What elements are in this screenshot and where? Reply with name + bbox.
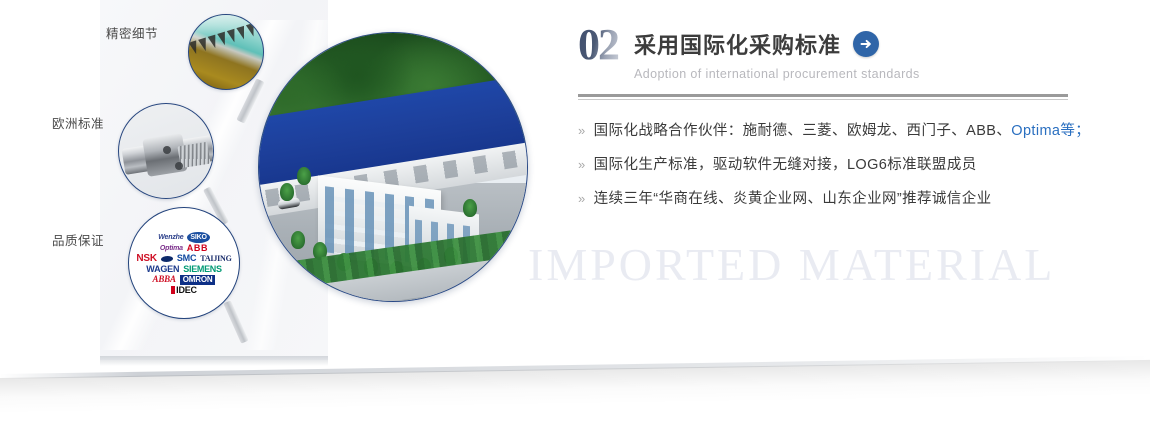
brand-logo-smc: SMC xyxy=(177,254,196,263)
screw-hole xyxy=(163,146,171,154)
brand-logo-idec: IDEC xyxy=(171,286,197,295)
floor-reflection xyxy=(0,360,1150,414)
list-item-highlight: Optima等； xyxy=(1011,123,1090,139)
arrow-right-icon[interactable] xyxy=(853,31,879,57)
list-item-text: 国际化战略合作伙伴：施耐德、三菱、欧姆龙、西门子、ABB、Optima等； xyxy=(594,119,1091,140)
brand-logo-abba: ABBA xyxy=(153,275,176,284)
tree xyxy=(297,167,311,185)
chevron-bullet-icon: » xyxy=(578,124,586,137)
brand-logo-wagen: WAGEN xyxy=(146,265,179,274)
list-item-text: 国际化生产标准，驱动软件无缝对接，LOG6标准联盟成员 xyxy=(594,153,977,174)
divider-thick xyxy=(578,94,1068,97)
chevron-bullet-icon: » xyxy=(578,158,586,171)
brand-logo-siemens: SIEMENS xyxy=(183,265,221,274)
label-precision-detail: 精密细节 xyxy=(106,23,158,42)
brand-logo-omron: OMRON xyxy=(180,275,216,285)
gear-detail-photo xyxy=(188,14,264,90)
list-item-text: 连续三年“华商在线、炎黄企业网、山东企业网”推荐诚信企业 xyxy=(594,187,992,208)
chevron-bullet-icon: » xyxy=(578,192,586,205)
content-column: 02 采用国际化采购标准 Adoption of international p… xyxy=(578,24,1078,224)
brand-logo-wenzhe: Wenzhe xyxy=(158,234,183,241)
watermark-text: IMPORTED MATERIAL xyxy=(528,238,1055,291)
brand-logos-collage: Wenzhe SIKO Optima ABB NSK SMC TAIJING W… xyxy=(128,207,240,319)
list-item: » 连续三年“华商在线、炎黄企业网、山东企业网”推荐诚信企业 xyxy=(578,187,1078,208)
promo-banner: 精密细节 欧洲标准 品质保证 Wenzhe SIKO Optima ABB xyxy=(0,0,1150,430)
ball-screw-photo xyxy=(118,103,214,199)
section-header: 02 采用国际化采购标准 Adoption of international p… xyxy=(578,24,1078,81)
tree xyxy=(463,199,477,217)
brand-logo-siko: SIKO xyxy=(187,232,209,243)
feature-list: » 国际化战略合作伙伴：施耐德、三菱、欧姆龙、西门子、ABB、Optima等； … xyxy=(578,119,1078,208)
screw-hole xyxy=(175,162,183,170)
list-item: » 国际化战略合作伙伴：施耐德、三菱、欧姆龙、西门子、ABB、Optima等； xyxy=(578,119,1078,140)
header-divider xyxy=(578,94,1068,100)
section-number: 02 xyxy=(578,24,624,66)
section-subtitle: Adoption of international procurement st… xyxy=(634,67,920,81)
factory-photo-circle xyxy=(258,32,528,302)
label-european-standard: 欧洲标准 xyxy=(52,113,104,132)
tree xyxy=(280,183,294,201)
page-title: 采用国际化采购标准 xyxy=(634,28,841,60)
label-quality-assurance: 品质保证 xyxy=(52,230,104,249)
brand-logo-taijing: TAIJING xyxy=(200,255,231,263)
brand-logo-nsk: NSK xyxy=(136,254,157,264)
tree xyxy=(291,231,305,249)
brand-logo-optima: Optima xyxy=(160,245,183,252)
smc-dot-icon xyxy=(160,256,173,262)
panel-shadow xyxy=(100,356,328,366)
brand-logo-abb: ABB xyxy=(187,244,208,253)
list-item: » 国际化生产标准，驱动软件无缝对接，LOG6标准联盟成员 xyxy=(578,153,1078,174)
divider-thin xyxy=(578,99,1068,100)
